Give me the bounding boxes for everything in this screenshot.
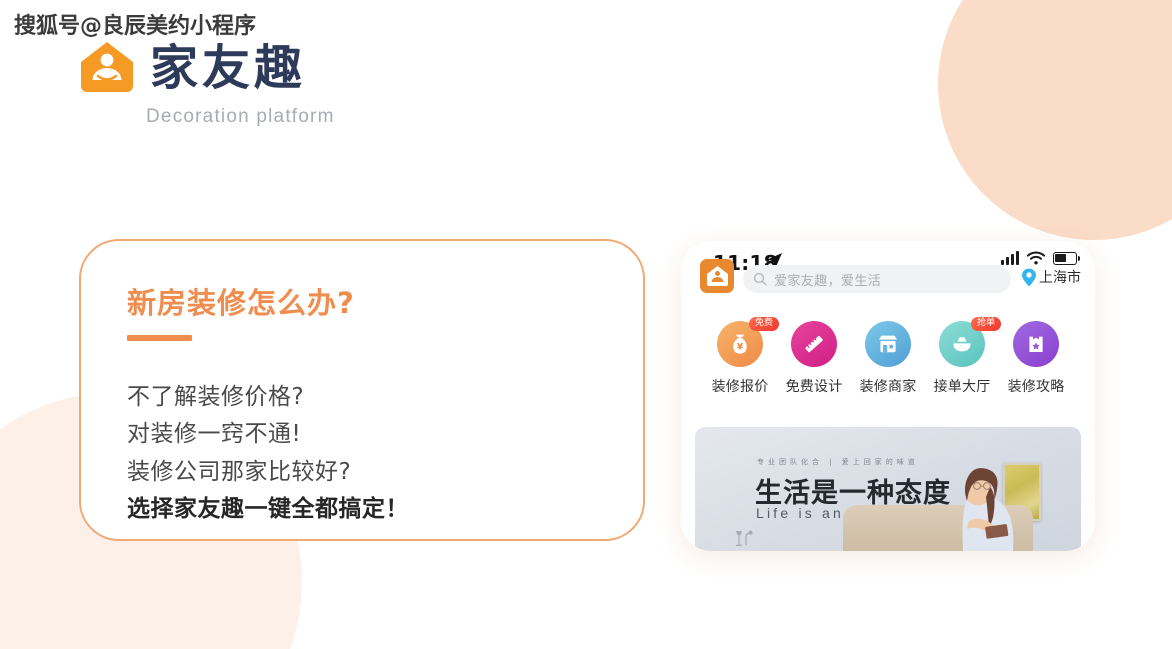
copy-line-3: 装修公司那家比较好?	[127, 454, 643, 491]
phone-screen: 11:18	[681, 241, 1095, 551]
banner-kicker: 专业团队化合 | 爱上回家的味道	[757, 457, 919, 467]
woman-reading-icon	[927, 459, 1023, 551]
storefront-icon	[876, 332, 900, 356]
copy-line-1: 不了解装修价格?	[127, 379, 643, 416]
brand-name: 家友趣	[150, 44, 306, 92]
nav-item-design[interactable]: 免费设计	[777, 321, 851, 396]
poster-canvas: 搜狐号@良辰美约小程序 家友趣 Decoration platform 新房装修…	[0, 0, 1172, 649]
location-selector[interactable]: 上海市	[1021, 267, 1081, 287]
nav-badge-free: 免费	[749, 317, 779, 331]
search-icon	[753, 272, 767, 286]
nav-item-quote[interactable]: ¥ 免费 装修报价	[703, 321, 777, 396]
signal-bars-icon	[1001, 251, 1019, 265]
copy-line-4: 选择家友趣一键全都搞定！	[127, 491, 643, 528]
storefront-bubble	[865, 321, 911, 367]
guide-book-bubble	[1013, 321, 1059, 367]
nav-label-order-hall: 接单大厅	[934, 376, 991, 396]
search-input[interactable]: 爱家友趣，爱生活	[743, 265, 1011, 293]
money-bag-bubble: ¥ 免费	[717, 321, 763, 367]
ruler-pencil-bubble	[791, 321, 837, 367]
quick-nav-grid: ¥ 免费 装修报价	[681, 321, 1095, 396]
copy-card-rule	[127, 335, 192, 341]
nav-label-guide: 装修攻略	[1008, 376, 1065, 396]
nav-badge-grab: 抢单	[971, 317, 1001, 331]
location-city: 上海市	[1039, 267, 1081, 287]
nav-label-merchants: 装修商家	[860, 376, 917, 396]
copy-card: 新房装修怎么办? 不了解装修价格? 对装修一窍不通! 装修公司那家比较好? 选择…	[79, 239, 645, 541]
watermark-text: 搜狐号@良辰美约小程序	[14, 8, 256, 40]
guide-book-icon	[1024, 332, 1048, 356]
money-bag-icon: ¥	[728, 332, 752, 356]
brand-block: 家友趣 Decoration platform	[78, 40, 335, 128]
location-pin-icon	[1021, 268, 1037, 287]
app-house-icon	[700, 259, 734, 293]
decoration-circle-top-right	[938, 0, 1172, 240]
copy-card-lines: 不了解装修价格? 对装修一窍不通! 装修公司那家比较好? 选择家友趣一键全都搞定…	[127, 379, 643, 528]
copy-line-2: 对装修一窍不通!	[127, 416, 643, 453]
brand-row: 家友趣	[78, 40, 306, 96]
order-bowl-bubble: 抢单	[939, 321, 985, 367]
search-placeholder: 爱家友趣，爱生活	[774, 270, 881, 289]
nav-item-order-hall[interactable]: 抢单 接单大厅	[925, 321, 999, 396]
phone-mockup: 11:18	[681, 241, 1095, 551]
wifi-icon	[1027, 251, 1045, 265]
nav-label-quote: 装修报价	[712, 376, 769, 396]
floor-lamp-icon	[731, 525, 757, 547]
house-smile-logo-icon	[78, 40, 136, 96]
svg-text:¥: ¥	[737, 342, 744, 352]
copy-card-title: 新房装修怎么办?	[127, 289, 643, 318]
nav-label-design: 免费设计	[786, 376, 843, 396]
battery-icon	[1053, 252, 1077, 265]
nav-item-merchants[interactable]: 装修商家	[851, 321, 925, 396]
order-bowl-icon	[950, 332, 974, 356]
status-indicators	[1001, 251, 1077, 265]
nav-item-guide[interactable]: 装修攻略	[999, 321, 1073, 396]
brand-subtitle: Decoration platform	[146, 106, 335, 128]
ruler-pencil-icon	[802, 332, 826, 356]
promo-banner[interactable]: 专业团队化合 | 爱上回家的味道 生活是一种态度 Life is an Atti…	[695, 427, 1081, 551]
